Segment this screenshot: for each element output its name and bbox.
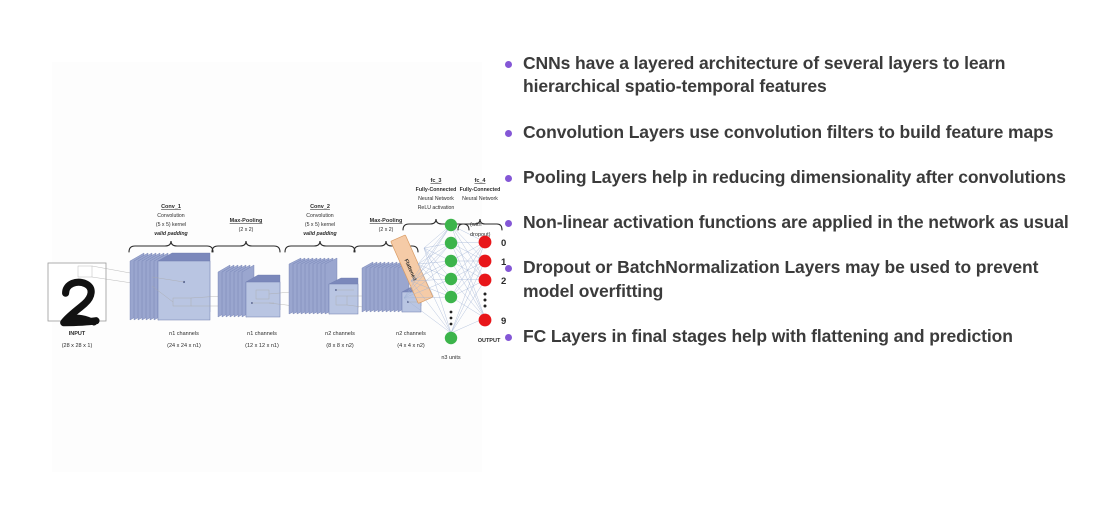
svg-text:n2 channels: n2 channels: [325, 331, 355, 337]
svg-text:ReLU activation: ReLU activation: [418, 205, 455, 211]
list-item: Convolution Layers use convolution filte…: [505, 121, 1080, 144]
bullet-text: CNNs have a layered architecture of seve…: [523, 52, 1080, 99]
svg-text:(with: (with: [470, 222, 482, 228]
bullet-text: Pooling Layers help in reducing dimensio…: [523, 166, 1066, 189]
svg-text:n3 units: n3 units: [441, 355, 461, 361]
bullet-text: Non-linear activation functions are appl…: [523, 211, 1069, 234]
svg-text:n1 channels: n1 channels: [169, 331, 199, 337]
list-item: CNNs have a layered architecture of seve…: [505, 52, 1080, 99]
svg-text:(2 x 2): (2 x 2): [379, 227, 394, 233]
cnn-architecture-figure: .lbl { font-family:"Liberation Sans",san…: [40, 160, 510, 395]
stage-label-maxpool_1: Max-Pooling (2 x 2): [212, 218, 280, 252]
fc3-ellipsis-icon: [450, 311, 453, 326]
svg-text:Max-Pooling: Max-Pooling: [370, 218, 403, 224]
list-item: Pooling Layers help in reducing dimensio…: [505, 166, 1080, 189]
svg-text:n2 channels: n2 channels: [396, 331, 426, 337]
stage-label-fc_3: fc_3 Fully-Connected Neural Network ReLU…: [403, 178, 469, 230]
svg-text:OUTPUT: OUTPUT: [478, 338, 501, 344]
bullet-dot-icon: [505, 175, 512, 182]
svg-text:INPUT: INPUT: [69, 331, 86, 337]
svg-text:(2 x 2): (2 x 2): [239, 227, 254, 233]
list-item: Non-linear activation functions are appl…: [505, 211, 1080, 234]
stage-label-conv_2: Conv_2 Convolution (5 x 5) kernel valid …: [285, 204, 355, 252]
output-ellipsis-icon: [484, 293, 487, 308]
bullet-dot-icon: [505, 130, 512, 137]
svg-text:Max-Pooling: Max-Pooling: [230, 218, 263, 224]
svg-text:fc_4: fc_4: [474, 178, 486, 184]
bullet-text: Dropout or BatchNormalization Layers may…: [523, 256, 1080, 303]
bullet-text: FC Layers in final stages help with flat…: [523, 325, 1013, 348]
svg-text:Conv_2: Conv_2: [310, 204, 330, 210]
bullet-dot-icon: [505, 61, 512, 68]
svg-text:fc_3: fc_3: [430, 178, 441, 184]
svg-text:(12 x 12 x n1): (12 x 12 x n1): [245, 343, 279, 349]
svg-text:(5 x 5) kernel: (5 x 5) kernel: [156, 222, 186, 228]
svg-text:Neural Network: Neural Network: [418, 196, 454, 202]
svg-text:Fully-Connected: Fully-Connected: [416, 187, 457, 193]
bullet-dot-icon: [505, 220, 512, 227]
list-item: Dropout or BatchNormalization Layers may…: [505, 256, 1080, 303]
svg-text:valid padding: valid padding: [303, 231, 337, 237]
svg-text:(28 x 28 x 1): (28 x 28 x 1): [62, 343, 93, 349]
bullet-text: Convolution Layers use convolution filte…: [523, 121, 1053, 144]
svg-text:valid padding: valid padding: [154, 231, 188, 237]
bullet-dot-icon: [505, 265, 512, 272]
svg-text:Fully-Connected: Fully-Connected: [460, 187, 501, 193]
list-item: FC Layers in final stages help with flat…: [505, 325, 1080, 348]
svg-text:Convolution: Convolution: [306, 213, 334, 219]
svg-text:Neural Network: Neural Network: [462, 196, 498, 202]
svg-text:Conv_1: Conv_1: [161, 204, 181, 210]
svg-text:(24 x 24 x n1): (24 x 24 x n1): [167, 343, 201, 349]
output-node-column: 0 1 2 9 OUTPUT: [478, 236, 507, 344]
svg-text:(8 x 8 x n2): (8 x 8 x n2): [326, 343, 354, 349]
bullet-list: CNNs have a layered architecture of seve…: [505, 52, 1080, 370]
svg-text:n1 channels: n1 channels: [247, 331, 277, 337]
stage-label-conv_1: Conv_1 Convolution (5 x 5) kernel valid …: [129, 204, 213, 252]
svg-text:Convolution: Convolution: [157, 213, 185, 219]
slide-canvas: .lbl { font-family:"Liberation Sans",san…: [0, 0, 1093, 513]
svg-text:(5 x 5) kernel: (5 x 5) kernel: [305, 222, 335, 228]
bullet-dot-icon: [505, 334, 512, 341]
svg-text:(4 x 4 x n2): (4 x 4 x n2): [397, 343, 425, 349]
